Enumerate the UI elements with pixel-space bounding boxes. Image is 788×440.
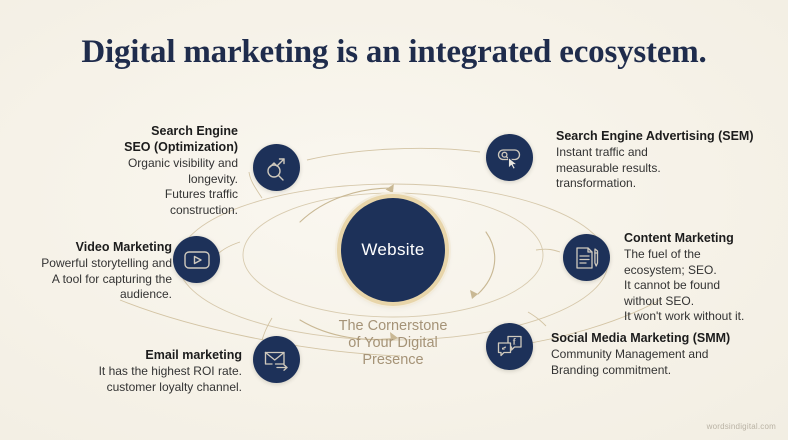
node-body-video: Powerful storytelling and A tool for cap… (12, 256, 172, 303)
hub-caption-line-1: The Cornerstone (313, 318, 473, 335)
search-bar-cursor-icon (496, 145, 524, 171)
node-body-email: It has the highest ROI rate. customer lo… (68, 364, 242, 395)
node-text-smm: Social Media Marketing (SMM) Community M… (551, 331, 787, 378)
node-body-smm: Community Management and Branding commit… (551, 347, 787, 378)
infographic-canvas: Digital marketing is an integrated ecosy… (0, 0, 788, 440)
node-title-seo-line-2: SEO (Optimization) (16, 140, 238, 155)
svg-text:f: f (512, 336, 516, 346)
node-body-line: audience. (12, 287, 172, 303)
node-body-line: measurable results. (556, 161, 786, 177)
node-body-line: ecosystem; SEO. (624, 263, 788, 279)
node-title-email: Email marketing (68, 348, 242, 363)
node-title-content: Content Marketing (624, 231, 788, 246)
video-play-icon (183, 249, 211, 271)
speech-bubbles-social-icon: f (496, 334, 524, 360)
node-body-line: A tool for capturing the (12, 272, 172, 288)
node-title-video: Video Marketing (12, 240, 172, 255)
node-icon-seo[interactable] (253, 144, 300, 191)
node-title-smm: Social Media Marketing (SMM) (551, 331, 787, 346)
node-body-line: Powerful storytelling and (12, 256, 172, 272)
hub-caption-line-2: of Your Digital (313, 335, 473, 352)
node-body-line: Instant traffic and (556, 145, 786, 161)
node-icon-email[interactable] (253, 336, 300, 383)
node-body-line: without SEO. (624, 294, 788, 310)
node-body-line: Futures traffic (16, 187, 238, 203)
node-body-line: customer loyalty channel. (68, 380, 242, 396)
hub-caption: The Cornerstone of Your Digital Presence (313, 318, 473, 369)
node-body-line: longevity. (16, 172, 238, 188)
node-body-sem: Instant traffic and measurable results. … (556, 145, 786, 192)
node-title-sem: Search Engine Advertising (SEM) (556, 129, 786, 144)
node-body-line: transformation. (556, 176, 786, 192)
node-body-line: It cannot be found (624, 278, 788, 294)
node-body-line: Organic visibility and (16, 156, 238, 172)
node-text-video: Video Marketing Powerful storytelling an… (12, 240, 172, 303)
node-icon-sem[interactable] (486, 134, 533, 181)
document-pen-icon (574, 245, 600, 271)
watermark: wordsindigital.com (707, 422, 776, 431)
node-body-line: The fuel of the (624, 247, 788, 263)
node-icon-smm[interactable]: f (486, 323, 533, 370)
node-body-seo: Organic visibility and longevity. Future… (16, 156, 238, 218)
node-icon-content[interactable] (563, 234, 610, 281)
center-hub-website[interactable]: Website (341, 198, 445, 302)
envelope-send-icon (263, 348, 291, 372)
node-body-line: Community Management and (551, 347, 787, 363)
node-body-line: It has the highest ROI rate. (68, 364, 242, 380)
node-icon-video[interactable] (173, 236, 220, 283)
node-text-sem: Search Engine Advertising (SEM) Instant … (556, 129, 786, 192)
node-body-content: The fuel of the ecosystem; SEO. It canno… (624, 247, 788, 325)
node-text-email: Email marketing It has the highest ROI r… (68, 348, 242, 395)
search-trend-icon (264, 155, 290, 181)
node-body-line: construction. (16, 203, 238, 219)
hub-label: Website (361, 240, 424, 260)
node-body-line: Branding commitment. (551, 363, 787, 379)
node-text-seo: Search Engine SEO (Optimization) Organic… (16, 124, 238, 218)
node-title-seo-line-1: Search Engine (16, 124, 238, 139)
node-body-line: It won't work without it. (624, 309, 788, 325)
hub-caption-line-3: Presence (313, 352, 473, 369)
node-text-content: Content Marketing The fuel of the ecosys… (624, 231, 788, 325)
